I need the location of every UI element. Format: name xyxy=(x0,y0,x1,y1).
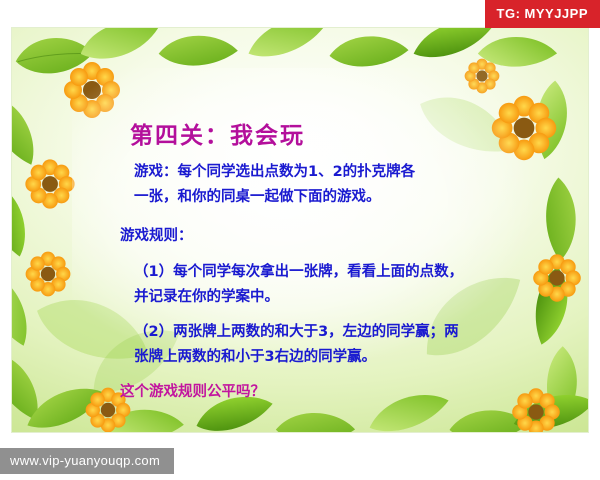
rule-item-1: （1）每个同学每次拿出一张牌，看看上面的点数， 并记录在你的学案中。 xyxy=(134,260,554,310)
rule-item-2: （2）两张牌上两数的和大于3，左边的同学赢；两 张牌上两数的和小于3右边的同学赢… xyxy=(134,320,554,370)
site-url-watermark: www.vip-yuanyouqp.com xyxy=(0,448,174,474)
telegram-watermark-badge: TG: MYYJJPP xyxy=(485,0,600,28)
presentation-slide: 第四关：我会玩 游戏：每个同学选出点数为1、2的扑克牌各 一张，和你的同桌一起做… xyxy=(12,28,588,432)
game-intro-text: 游戏：每个同学选出点数为1、2的扑克牌各 一张，和你的同桌一起做下面的游戏。 xyxy=(134,160,554,210)
page-canvas: 第四关：我会玩 游戏：每个同学选出点数为1、2的扑克牌各 一张，和你的同桌一起做… xyxy=(0,0,600,480)
rules-heading: 游戏规则： xyxy=(120,224,193,249)
slide-text-content: 第四关：我会玩 游戏：每个同学选出点数为1、2的扑克牌各 一张，和你的同桌一起做… xyxy=(12,28,588,432)
closing-question: 这个游戏规则公平吗？ xyxy=(120,380,265,405)
slide-title: 第四关：我会玩 xyxy=(130,116,305,150)
